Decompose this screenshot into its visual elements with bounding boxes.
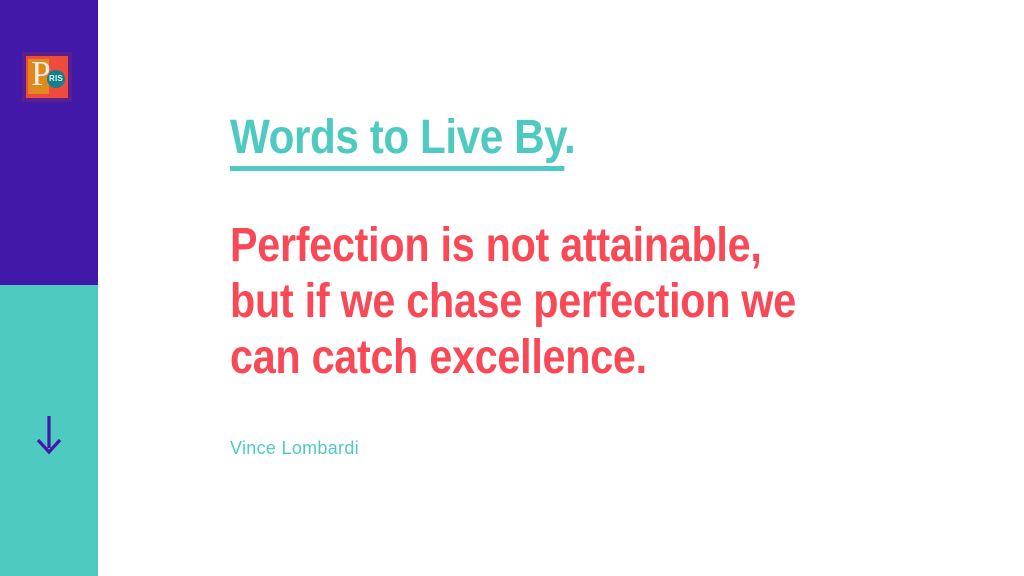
logo-badge-circle: RIS [47,70,65,88]
arrow-down-glyph [32,412,66,458]
logo-badge-text: RIS [47,70,65,88]
arrow-down-icon[interactable] [32,412,66,458]
sidebar-top-panel [0,0,98,285]
slide-content: Words to Live By. Perfection is not atta… [230,0,870,576]
logo-square: P RIS [26,56,68,98]
page-title-punctuation: . [564,111,575,164]
slide-canvas: P RIS Words to Live By. Perfection is no… [0,0,1024,576]
page-title: Words to Live By. [230,112,575,164]
brand-logo[interactable]: P RIS [22,52,72,102]
quote-attribution: Vince Lombardi [230,438,359,459]
page-title-text: Words to Live By [230,111,564,171]
sidebar: P RIS [0,0,98,576]
quote-text: Perfection is not attainable, but if we … [230,218,832,386]
